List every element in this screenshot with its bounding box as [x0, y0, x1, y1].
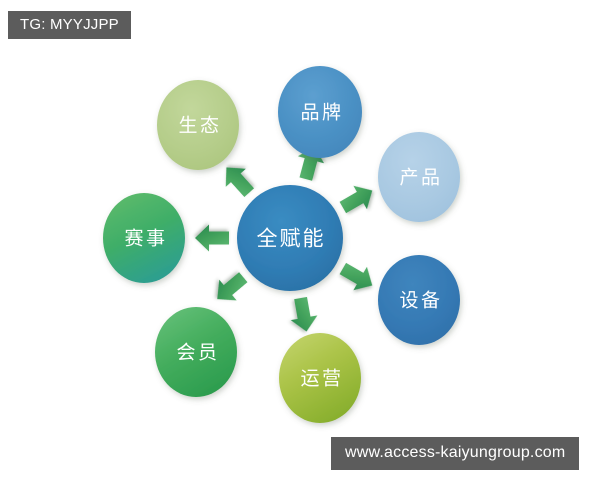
spoke-node-shebei[interactable]: 设备 [378, 255, 460, 345]
hub-and-spoke-diagram: 品牌 产品 设备 运营 会员 赛事 生态 全赋能 [0, 0, 600, 480]
arrow-to-huiyuan [209, 267, 252, 310]
arrow-glyph-icon [336, 257, 379, 297]
arrow-glyph-icon [209, 267, 252, 310]
spoke-node-yunying[interactable]: 运营 [279, 333, 361, 423]
diagram-canvas: 品牌 产品 设备 运营 会员 赛事 生态 全赋能 [0, 0, 600, 480]
arrow-to-saishi [195, 225, 229, 252]
arrow-to-yunying [287, 296, 319, 334]
site-watermark-chip: www.access-kaiyungroup.com [331, 437, 579, 470]
spoke-node-chanpin[interactable]: 产品 [378, 132, 460, 222]
arrow-to-shengtai [216, 158, 259, 201]
spoke-circle-pinpai[interactable] [278, 66, 362, 158]
spoke-circle-shengtai[interactable] [157, 80, 239, 170]
arrow-glyph-icon [216, 158, 259, 201]
arrow-glyph-icon [195, 225, 229, 252]
spoke-node-pinpai[interactable]: 品牌 [278, 66, 362, 158]
spoke-circle-yunying[interactable] [279, 333, 361, 423]
spoke-circle-saishi[interactable] [103, 193, 185, 283]
arrow-to-chanpin [336, 179, 379, 219]
arrow-to-shebei [336, 257, 379, 297]
spoke-node-shengtai[interactable]: 生态 [157, 80, 239, 170]
spoke-circle-chanpin[interactable] [378, 132, 460, 222]
center-node[interactable]: 全赋能 [237, 185, 343, 291]
arrow-glyph-icon [336, 179, 379, 219]
center-circle[interactable] [237, 185, 343, 291]
arrow-glyph-icon [287, 296, 319, 334]
spoke-node-huiyuan[interactable]: 会员 [155, 307, 237, 397]
spoke-node-saishi[interactable]: 赛事 [103, 193, 185, 283]
spoke-circle-shebei[interactable] [378, 255, 460, 345]
spoke-circle-huiyuan[interactable] [155, 307, 237, 397]
tg-watermark-chip: TG: MYYJJPP [8, 11, 131, 39]
